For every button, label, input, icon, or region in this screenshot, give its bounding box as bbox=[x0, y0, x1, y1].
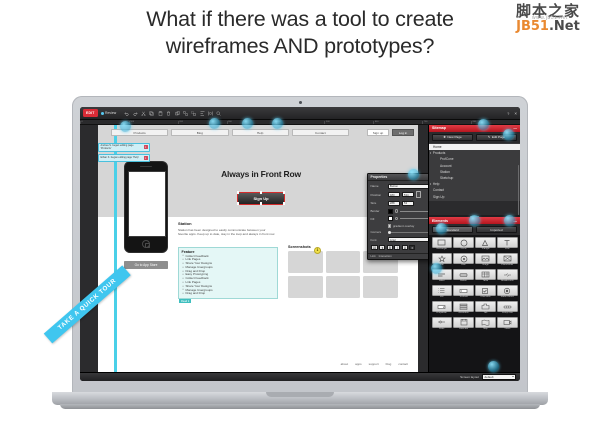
rectangle-icon bbox=[432, 237, 452, 248]
lock-icon[interactable] bbox=[416, 191, 421, 198]
status-bar: Screen layout default bbox=[80, 372, 520, 381]
wireframe-app: EDIT Review bbox=[80, 107, 520, 381]
element-label: Table bbox=[475, 280, 495, 283]
nav-item-products[interactable]: Products bbox=[111, 129, 168, 136]
laptop-notch bbox=[266, 392, 334, 397]
copy-icon[interactable] bbox=[149, 111, 154, 116]
paste-icon[interactable] bbox=[158, 111, 163, 116]
sitemap-item-label: Help bbox=[433, 182, 440, 186]
link-property-label[interactable]: Link bbox=[371, 254, 376, 258]
right-sidebar: Sitemap — ✚ New Page ✎ Edit Page bbox=[428, 125, 520, 373]
element-tile-star[interactable]: Star bbox=[432, 253, 452, 267]
gradient-label: gradient overlay bbox=[393, 224, 414, 228]
pencil-icon: ✎ bbox=[488, 135, 491, 139]
collaborator-comment[interactable]: Ethan K. began editing page 'Help' × bbox=[98, 154, 150, 162]
ruler-tick: 200 bbox=[178, 121, 227, 123]
element-label: Accordion bbox=[453, 312, 473, 315]
font-label: Font bbox=[371, 238, 386, 242]
resize-handle[interactable] bbox=[260, 191, 262, 193]
disc-icon bbox=[453, 253, 473, 264]
element-label: Rectangle bbox=[432, 248, 452, 251]
corner-label: Corners bbox=[371, 230, 386, 234]
checkbox-icon bbox=[475, 285, 495, 296]
image-icon bbox=[475, 253, 495, 264]
plus-icon: ✚ bbox=[443, 135, 446, 139]
footer-link-contact[interactable]: contact bbox=[398, 362, 408, 366]
fill-style-radio[interactable] bbox=[395, 217, 398, 220]
resize-handle[interactable] bbox=[237, 191, 239, 193]
video-icon bbox=[497, 317, 517, 328]
close-icon[interactable]: × bbox=[144, 145, 148, 149]
note-badge[interactable]: 1 bbox=[314, 247, 321, 254]
station-body: Station has been designed to easily comm… bbox=[178, 228, 276, 236]
headline-line-1: What if there was a tool to create bbox=[146, 7, 454, 31]
table-icon bbox=[475, 269, 495, 280]
element-tile-label[interactable]: Label bbox=[432, 269, 452, 283]
sitemap-title: Sitemap bbox=[432, 126, 446, 130]
sitemap-item-signup[interactable]: Sign Up bbox=[429, 194, 520, 200]
screenshot-placeholder[interactable] bbox=[363, 276, 398, 298]
accordion-icon bbox=[453, 301, 473, 312]
dropdown-icon bbox=[432, 301, 452, 312]
elements-grid: Rectangle Circle Triangle Line Star Disc… bbox=[429, 235, 520, 333]
footer-link-apps[interactable]: apps bbox=[355, 362, 362, 366]
position-x-field[interactable]: 480 bbox=[388, 192, 400, 197]
properties-title: Properties bbox=[371, 175, 388, 179]
radio-icon bbox=[497, 285, 517, 296]
element-tile-comp-nav[interactable]: Comp Nav bbox=[497, 301, 517, 315]
page-nav: Products Blog Help Contact Sign up Log i… bbox=[111, 128, 414, 137]
element-tile-circle[interactable]: Circle bbox=[453, 237, 473, 251]
nav-item-blog[interactable]: Blog bbox=[171, 129, 228, 136]
app-store-button[interactable]: Go to App Store bbox=[124, 261, 168, 269]
feature-tag-badge: Read it bbox=[179, 299, 191, 303]
screen-layout-label: Screen layout bbox=[460, 375, 479, 379]
edit-page-label: Edit Page bbox=[492, 135, 505, 139]
resize-handle[interactable] bbox=[237, 202, 239, 204]
tab-icon bbox=[475, 301, 495, 312]
bold-button[interactable]: B bbox=[387, 245, 393, 251]
ruler-tick: 300 bbox=[227, 121, 276, 123]
resize-handle[interactable] bbox=[260, 202, 262, 204]
group-icon[interactable] bbox=[183, 111, 188, 116]
feature-heading: Feature bbox=[182, 250, 275, 254]
signup-cta-label: Sign Up bbox=[253, 196, 268, 201]
sitemap-actions: ✚ New Page ✎ Edit Page bbox=[429, 132, 520, 144]
circle-icon bbox=[453, 237, 473, 248]
sitemap-item-label: Products bbox=[433, 151, 446, 155]
element-label: Video bbox=[497, 328, 517, 331]
comment-text: Ethan K. began editing page 'Help' bbox=[101, 156, 143, 159]
list-item: Drag and Drop bbox=[182, 292, 275, 296]
textfield-icon bbox=[453, 285, 473, 296]
element-label: Placeholder bbox=[497, 264, 517, 267]
page-footer-links: about apps support blog contact bbox=[341, 362, 408, 366]
station-section: Station Station has been designed to eas… bbox=[178, 221, 276, 236]
undo-icon[interactable] bbox=[124, 111, 129, 116]
phone-mockup bbox=[124, 161, 168, 253]
guide-line bbox=[114, 125, 117, 373]
edit-page-button[interactable]: ✎ Edit Page bbox=[476, 134, 517, 141]
star-icon bbox=[432, 253, 452, 264]
sitemap-item-label: Account bbox=[440, 164, 452, 168]
review-label: Review bbox=[105, 111, 116, 115]
element-label: List bbox=[432, 296, 452, 299]
cut-icon[interactable] bbox=[141, 111, 146, 116]
element-label: Label bbox=[432, 280, 452, 283]
ungroup-icon[interactable] bbox=[191, 111, 196, 116]
sitemap-item-label: Contact bbox=[433, 188, 444, 192]
element-tile-tab[interactable]: Tab bbox=[475, 301, 495, 315]
interaction-property-label[interactable]: Interaction bbox=[379, 254, 392, 258]
screenshot-placeholder[interactable] bbox=[288, 276, 323, 298]
nav-login-button[interactable]: Log in bbox=[392, 129, 414, 136]
watermark-url: www.jb51.net bbox=[532, 16, 568, 21]
list-icon bbox=[432, 285, 452, 296]
elements-scrollbar[interactable] bbox=[518, 165, 520, 215]
watermark-jb51: JB51 bbox=[516, 19, 549, 34]
placeholder-icon bbox=[497, 253, 517, 264]
watermark-net: .Net bbox=[549, 19, 580, 34]
element-label: Tab bbox=[475, 312, 495, 315]
phone-home-button-icon bbox=[142, 240, 150, 248]
ruler-tick: 100 bbox=[129, 121, 178, 123]
sitemap-empty-area bbox=[429, 201, 520, 215]
resize-handle[interactable] bbox=[283, 191, 285, 193]
phone-screen bbox=[128, 171, 166, 237]
laptop-lid: EDIT Review bbox=[72, 96, 528, 394]
comment-text: Andrea S. began editing page 'Products' bbox=[101, 144, 143, 150]
ruler-tick: 700 bbox=[422, 121, 471, 123]
size-label: Size bbox=[371, 201, 386, 205]
line-icon bbox=[497, 237, 517, 248]
edit-mode-button[interactable]: EDIT bbox=[83, 109, 98, 116]
laptop-screen: EDIT Review bbox=[80, 107, 520, 381]
webcam-icon bbox=[299, 101, 302, 104]
align-icon[interactable] bbox=[200, 111, 205, 116]
sitemap-collapse-icon[interactable]: — bbox=[513, 126, 517, 130]
new-page-label: New Page bbox=[447, 135, 461, 139]
element-label: Triangle bbox=[475, 248, 495, 251]
sitemap-item-label: Sketchup bbox=[440, 176, 453, 180]
element-label: Dropdown bbox=[432, 312, 452, 315]
review-indicator-icon bbox=[101, 112, 104, 115]
position-y-field[interactable]: 534 bbox=[402, 192, 414, 197]
close-icon[interactable]: × bbox=[514, 111, 517, 116]
triangle-icon bbox=[475, 237, 495, 248]
phone-speaker-icon bbox=[140, 166, 152, 168]
sitemap-item-label: Sign Up bbox=[433, 195, 444, 199]
elements-title: Elements bbox=[432, 219, 448, 223]
screenshot-root: What if there was a tool to create wiref… bbox=[0, 0, 600, 439]
ruler-tick: 500 bbox=[324, 121, 373, 123]
laptop-mockup: EDIT Review bbox=[52, 96, 548, 426]
nav-signup-button[interactable]: Sign up bbox=[367, 129, 389, 136]
element-label: Slider bbox=[432, 328, 452, 331]
watermark-logo: 脚本之家 www.jb51.net JB51.Net bbox=[502, 4, 594, 42]
border-label: Border bbox=[371, 209, 386, 213]
breadcrumb-icon bbox=[497, 269, 517, 280]
new-page-button[interactable]: ✚ New Page bbox=[432, 134, 473, 141]
element-tile-video[interactable]: Video bbox=[497, 317, 517, 331]
element-tile-button[interactable]: Button bbox=[453, 269, 473, 283]
screenshot-placeholder[interactable] bbox=[326, 251, 361, 273]
footer-link-support[interactable]: support bbox=[369, 362, 379, 366]
border-style-radio[interactable] bbox=[395, 209, 398, 212]
sitemap-item-label: Home bbox=[433, 145, 442, 149]
elements-panel-header: Elements — bbox=[429, 217, 520, 224]
signup-cta-button[interactable]: Sign Up bbox=[238, 193, 284, 204]
element-tile-checkbox[interactable]: Checkbox bbox=[475, 285, 495, 299]
element-label: Radio Button bbox=[497, 296, 517, 299]
sitemap-item-label: ProfCone bbox=[440, 157, 453, 161]
element-tile-breadcrumb[interactable]: Breadcrumb bbox=[497, 269, 517, 283]
resize-handle[interactable] bbox=[283, 202, 285, 204]
element-label: Star bbox=[432, 264, 452, 267]
screenshot-placeholder[interactable] bbox=[326, 276, 361, 298]
app-toolbar: EDIT Review bbox=[80, 107, 520, 120]
help-button[interactable]: ? bbox=[507, 111, 509, 116]
element-label: Circle bbox=[453, 248, 473, 251]
nav-item-contact[interactable]: Contact bbox=[292, 129, 349, 136]
element-tile-placeholder[interactable]: Placeholder bbox=[497, 253, 517, 267]
footer-link-blog[interactable]: blog bbox=[386, 362, 392, 366]
fill-label: Fill bbox=[371, 217, 386, 221]
gradient-checkbox[interactable] bbox=[388, 224, 391, 227]
button-icon bbox=[453, 269, 473, 280]
border-color-swatch[interactable] bbox=[388, 209, 393, 214]
chevron-right-icon[interactable] bbox=[430, 183, 431, 185]
element-tile-slider[interactable]: Slider bbox=[432, 317, 452, 331]
element-label: Line bbox=[497, 248, 517, 251]
element-tile-table[interactable]: Table bbox=[475, 269, 495, 283]
watermark-en-text: JB51.Net bbox=[502, 20, 594, 33]
fill-color-swatch[interactable] bbox=[388, 216, 393, 221]
review-mode-button[interactable]: Review bbox=[101, 111, 117, 115]
size-height-field[interactable]: 53 bbox=[402, 201, 414, 206]
close-icon[interactable]: × bbox=[144, 156, 148, 160]
zoom-icon[interactable] bbox=[216, 111, 221, 116]
map-icon bbox=[475, 317, 495, 328]
laptop-foot bbox=[60, 404, 540, 409]
element-tile-rectangle[interactable]: Rectangle bbox=[432, 237, 452, 251]
element-label: Comp Nav bbox=[497, 312, 517, 315]
element-label: Calendar bbox=[453, 328, 473, 331]
ruler-tick: 0 bbox=[80, 121, 129, 123]
calendar-icon bbox=[453, 317, 473, 328]
name-label: Name bbox=[371, 184, 386, 188]
distribute-icon[interactable] bbox=[208, 111, 213, 116]
toolbar-icon-group bbox=[124, 111, 221, 116]
feature-list: Collect Feedback Link Pages Share Your D… bbox=[182, 255, 275, 297]
element-label: Checkbox bbox=[475, 296, 495, 299]
italic-button[interactable]: I bbox=[394, 245, 400, 251]
nav-item-help[interactable]: Help bbox=[232, 129, 289, 136]
align-icon[interactable]: ≡ bbox=[409, 245, 415, 251]
element-label: Map bbox=[475, 328, 495, 331]
element-tile-image[interactable]: Image bbox=[475, 253, 495, 267]
screen-layout-select[interactable]: default bbox=[482, 374, 516, 380]
element-label: Textfield bbox=[453, 296, 473, 299]
station-heading: Station bbox=[178, 221, 276, 226]
duplicate-icon[interactable] bbox=[175, 111, 180, 116]
size-width-field[interactable]: 288 bbox=[388, 201, 400, 206]
position-label: Position bbox=[371, 193, 386, 197]
element-tile-triangle[interactable]: Triangle bbox=[475, 237, 495, 251]
font-size-stepper[interactable]: ▾ bbox=[379, 245, 385, 251]
element-label: Disc bbox=[453, 264, 473, 267]
tab-standard[interactable]: Standard bbox=[432, 226, 473, 233]
element-tile-accordion[interactable]: Accordion bbox=[453, 301, 473, 315]
feature-section[interactable]: Feature Collect Feedback Link Pages Shar… bbox=[178, 247, 278, 300]
element-tile-dropdown[interactable]: Dropdown bbox=[432, 301, 452, 315]
font-size-field[interactable]: 18 bbox=[371, 245, 379, 251]
element-tile-textfield[interactable]: Textfield bbox=[453, 285, 473, 299]
sitemap-item-label: Station bbox=[440, 170, 450, 174]
elements-collapse-icon[interactable]: — bbox=[513, 219, 517, 223]
ruler-tick: 400 bbox=[276, 121, 325, 123]
element-tile-list[interactable]: List bbox=[432, 285, 452, 299]
hero-headline: Always in Front Row bbox=[176, 169, 346, 179]
element-label: Image bbox=[475, 264, 495, 267]
slider-icon bbox=[432, 317, 452, 328]
screenshot-placeholder[interactable] bbox=[288, 251, 323, 273]
element-label: Button bbox=[453, 280, 473, 283]
sitemap-tree: Home Products ProfCone Account bbox=[429, 143, 520, 201]
nav-icon bbox=[497, 301, 517, 312]
elements-tabs: Standard Imported bbox=[429, 224, 520, 235]
collaborator-comment[interactable]: Andrea S. began editing page 'Products' … bbox=[98, 143, 150, 152]
ruler-tick: 800 bbox=[471, 121, 520, 123]
footer-link-about[interactable]: about bbox=[341, 362, 349, 366]
element-tile-calendar[interactable]: Calendar bbox=[453, 317, 473, 331]
sitemap-panel-header: Sitemap — bbox=[429, 125, 520, 132]
element-tile-map[interactable]: Map bbox=[475, 317, 495, 331]
element-tile-line[interactable]: Line bbox=[497, 237, 517, 251]
redo-icon[interactable] bbox=[133, 111, 138, 116]
ruler-tick: 600 bbox=[373, 121, 422, 123]
element-tile-radio[interactable]: Radio Button bbox=[497, 285, 517, 299]
tab-imported[interactable]: Imported bbox=[476, 226, 517, 233]
element-label: Breadcrumb bbox=[497, 280, 517, 283]
chevron-right-icon[interactable] bbox=[430, 152, 431, 154]
underline-button[interactable]: U bbox=[402, 245, 408, 251]
element-tile-disc[interactable]: Disc bbox=[453, 253, 473, 267]
delete-icon[interactable] bbox=[166, 111, 171, 116]
label-icon bbox=[432, 269, 452, 280]
